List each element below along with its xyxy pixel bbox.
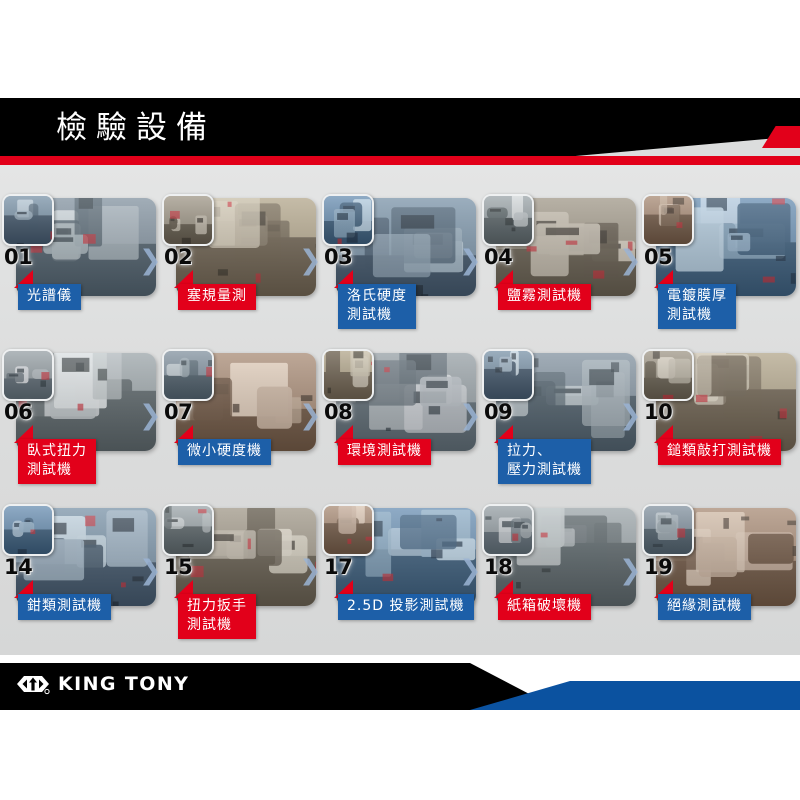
flow-chevron-icon: ❯ [459,403,481,429]
equipment-number: 08 [324,402,352,423]
equipment-label: 扭力扳手 測試機 [178,594,256,639]
equipment-thumbnail [482,504,534,556]
equipment-thumbnail [642,504,694,556]
equipment-number: 02 [164,247,192,268]
equipment-thumbnail [162,349,214,401]
brand-logo: KING TONY [16,672,189,696]
equipment-number: 03 [324,247,352,268]
equipment-row: 06臥式扭力 測試機❯07微小硬度機❯08環境測試機❯09拉力、 壓力測試機❯1… [0,347,800,502]
equipment-label: 紙箱破壞機 [498,594,591,620]
equipment-card-14[interactable]: 14鉗類測試機 [0,502,160,657]
equipment-grid: 01光譜儀❯02塞規量測❯03洛氏硬度 測試機❯04鹽霧測試機❯05電鍍膜厚 測… [0,192,800,657]
flow-chevron-icon: ❯ [299,403,321,429]
equipment-label: 環境測試機 [338,439,431,465]
equipment-card-02[interactable]: 02塞規量測 [160,192,320,347]
slide-root: 檢驗設備 01光譜儀❯02塞規量測❯03洛氏硬度 測試機❯04鹽霧測試機❯05電… [0,0,800,800]
equipment-number: 05 [644,247,672,268]
equipment-thumbnail [162,194,214,246]
equipment-number: 10 [644,402,672,423]
equipment-label: 洛氏硬度 測試機 [338,284,416,329]
equipment-card-08[interactable]: 08環境測試機 [320,347,480,502]
equipment-label: 2.5D 投影測試機 [338,594,474,620]
equipment-card-03[interactable]: 03洛氏硬度 測試機 [320,192,480,347]
equipment-number: 17 [324,557,352,578]
equipment-number: 15 [164,557,192,578]
equipment-label: 光譜儀 [18,284,81,310]
equipment-card-19[interactable]: 19絕緣測試機 [640,502,800,657]
equipment-label: 拉力、 壓力測試機 [498,439,591,484]
equipment-label: 塞規量測 [178,284,256,310]
header-red-stripe [0,156,800,165]
equipment-thumbnail [482,349,534,401]
equipment-row: 14鉗類測試機❯15扭力扳手 測試機❯172.5D 投影測試機❯18紙箱破壞機❯… [0,502,800,657]
flow-chevron-icon: ❯ [459,248,481,274]
equipment-card-09[interactable]: 09拉力、 壓力測試機 [480,347,640,502]
equipment-label: 臥式扭力 測試機 [18,439,96,484]
kingtony-hexagon-arrow-logo-icon [16,672,50,696]
equipment-number: 04 [484,247,512,268]
equipment-label: 微小硬度機 [178,439,271,465]
equipment-card-05[interactable]: 05電鍍膜厚 測試機 [640,192,800,347]
equipment-card-18[interactable]: 18紙箱破壞機 [480,502,640,657]
equipment-thumbnail [322,194,374,246]
equipment-thumbnail [162,504,214,556]
flow-chevron-icon: ❯ [139,403,161,429]
equipment-thumbnail [482,194,534,246]
equipment-card-04[interactable]: 04鹽霧測試機 [480,192,640,347]
equipment-number: 06 [4,402,32,423]
equipment-label: 鉗類測試機 [18,594,111,620]
flow-chevron-icon: ❯ [619,558,641,584]
equipment-card-15[interactable]: 15扭力扳手 測試機 [160,502,320,657]
equipment-label: 絕緣測試機 [658,594,751,620]
equipment-thumbnail [322,349,374,401]
equipment-row: 01光譜儀❯02塞規量測❯03洛氏硬度 測試機❯04鹽霧測試機❯05電鍍膜厚 測… [0,192,800,347]
equipment-number: 07 [164,402,192,423]
equipment-thumbnail [2,194,54,246]
flow-chevron-icon: ❯ [619,403,641,429]
equipment-card-07[interactable]: 07微小硬度機 [160,347,320,502]
page-title: 檢驗設備 [56,104,216,152]
flow-chevron-icon: ❯ [299,248,321,274]
equipment-card-10[interactable]: 10鎚類敲打測試機 [640,347,800,502]
flow-chevron-icon: ❯ [299,558,321,584]
equipment-label: 鹽霧測試機 [498,284,591,310]
equipment-thumbnail [642,349,694,401]
equipment-thumbnail [642,194,694,246]
equipment-label: 鎚類敲打測試機 [658,439,781,465]
equipment-card-06[interactable]: 06臥式扭力 測試機 [0,347,160,502]
equipment-number: 09 [484,402,512,423]
flow-chevron-icon: ❯ [139,558,161,584]
flow-chevron-icon: ❯ [139,248,161,274]
equipment-card-01[interactable]: 01光譜儀 [0,192,160,347]
equipment-thumbnail [2,349,54,401]
equipment-number: 14 [4,557,32,578]
equipment-thumbnail [322,504,374,556]
equipment-number: 01 [4,247,32,268]
flow-chevron-icon: ❯ [459,558,481,584]
equipment-label: 電鍍膜厚 測試機 [658,284,736,329]
brand-name: KING TONY [58,672,189,696]
equipment-number: 18 [484,557,512,578]
equipment-number: 19 [644,557,672,578]
equipment-card-17[interactable]: 172.5D 投影測試機 [320,502,480,657]
flow-chevron-icon: ❯ [619,248,641,274]
equipment-thumbnail [2,504,54,556]
footer: KING TONY [0,655,800,710]
